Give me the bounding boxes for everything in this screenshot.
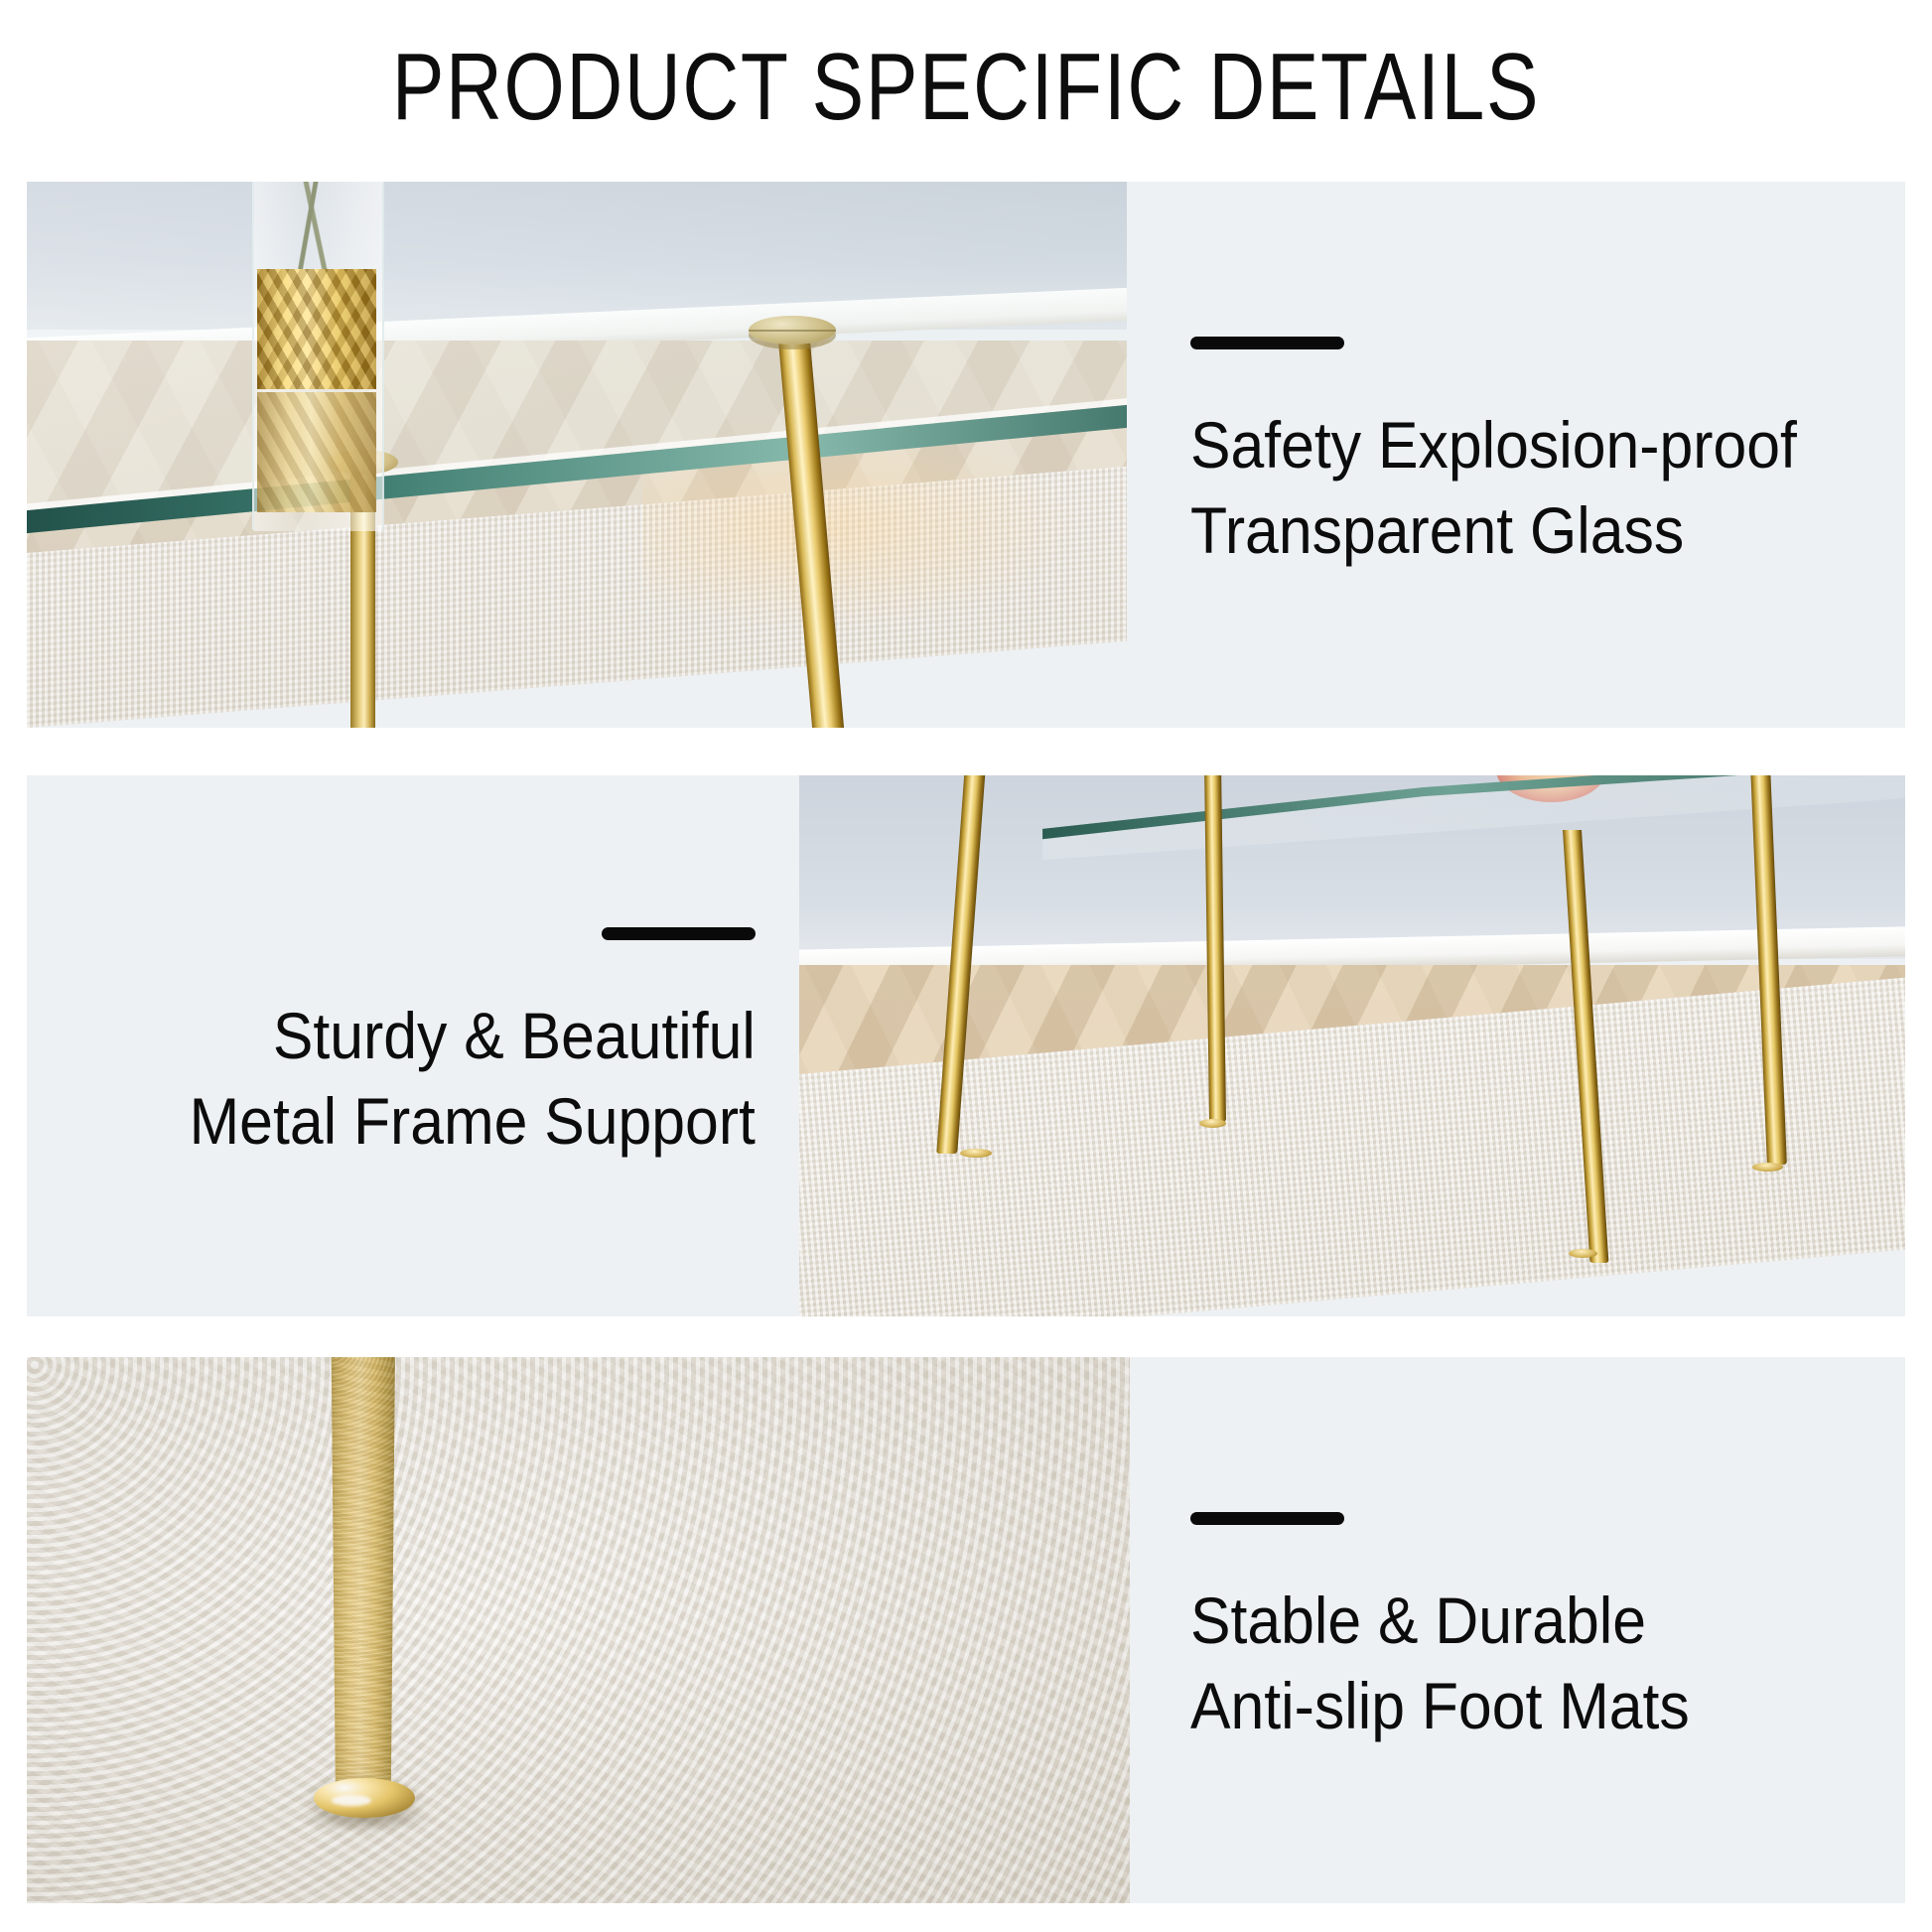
product-details-infographic: PRODUCT SPECIFIC DETAILS — [0, 0, 1932, 1932]
dash-divider-icon — [1190, 337, 1344, 349]
foot-mat-photo — [27, 1357, 1130, 1903]
panel-image-metal-frame — [799, 775, 1905, 1316]
leg-cap-seam — [749, 330, 837, 332]
detail-panel-safety-glass: Safety Explosion-proof Transparent Glass — [27, 182, 1905, 728]
metal-legs-photo — [799, 775, 1905, 1316]
plant-stems — [291, 182, 335, 269]
panel-text-safety-glass: Safety Explosion-proof Transparent Glass — [1127, 182, 1905, 728]
panel-caption-metal-frame: Sturdy & Beautiful Metal Frame Support — [190, 994, 756, 1165]
panel-image-foot-mats — [27, 1357, 1130, 1903]
panel-image-safety-glass — [27, 182, 1127, 728]
table-foot-2 — [1199, 1119, 1226, 1128]
gold-honeycomb-sleeve — [257, 269, 377, 389]
panel-caption-foot-mats: Stable & Durable Anti-slip Foot Mats — [1190, 1579, 1690, 1749]
table-foot-1 — [960, 1149, 992, 1158]
panel-caption-safety-glass: Safety Explosion-proof Transparent Glass — [1190, 403, 1797, 574]
dash-divider-icon — [1190, 1512, 1344, 1525]
glass-tabletop-photo — [27, 182, 1127, 728]
page-title: PRODUCT SPECIFIC DETAILS — [174, 38, 1758, 138]
table-foot-4 — [1752, 1163, 1783, 1172]
detail-panel-foot-mats: Stable & Durable Anti-slip Foot Mats — [27, 1357, 1905, 1903]
detail-panel-metal-frame: Sturdy & Beautiful Metal Frame Support — [27, 775, 1905, 1316]
photo-vignette — [27, 1357, 1130, 1903]
dash-divider-icon — [602, 927, 756, 940]
table-foot-3 — [1569, 1249, 1597, 1258]
panel-text-foot-mats: Stable & Durable Anti-slip Foot Mats — [1130, 1357, 1905, 1903]
gold-sleeve-reflection — [257, 392, 377, 512]
panel-text-metal-frame: Sturdy & Beautiful Metal Frame Support — [27, 775, 799, 1316]
